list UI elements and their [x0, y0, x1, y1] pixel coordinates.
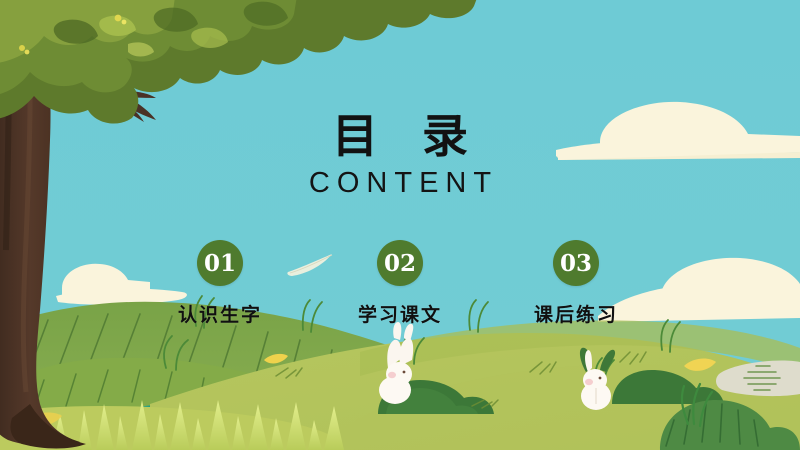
- badge-03[interactable]: 03: [553, 240, 599, 286]
- content-list: 01 认识生字 02 学习课文 03 课后练习: [0, 240, 800, 350]
- title-block: 目 录 CONTENT: [0, 110, 800, 200]
- content-item-01[interactable]: 01 认识生字: [140, 240, 300, 327]
- presentation-slide: 目 录 CONTENT 01 认识生字 02 学习课文 03 课后练习: [0, 0, 800, 450]
- badge-02[interactable]: 02: [377, 240, 423, 286]
- content-item-03[interactable]: 03 课后练习: [496, 240, 656, 327]
- scene-background: [0, 0, 800, 450]
- badge-01[interactable]: 01: [197, 240, 243, 286]
- content-item-label-02: 学习课文: [320, 300, 480, 327]
- content-item-label-01: 认识生字: [140, 300, 300, 327]
- badge-number-01: 01: [204, 252, 236, 275]
- content-item-label-03: 课后练习: [496, 300, 656, 327]
- content-item-02[interactable]: 02 学习课文: [320, 240, 480, 327]
- badge-number-02: 02: [384, 252, 416, 275]
- page-title: 目 录: [0, 110, 800, 162]
- page-subtitle: CONTENT: [0, 166, 800, 200]
- badge-number-03: 03: [560, 252, 592, 275]
